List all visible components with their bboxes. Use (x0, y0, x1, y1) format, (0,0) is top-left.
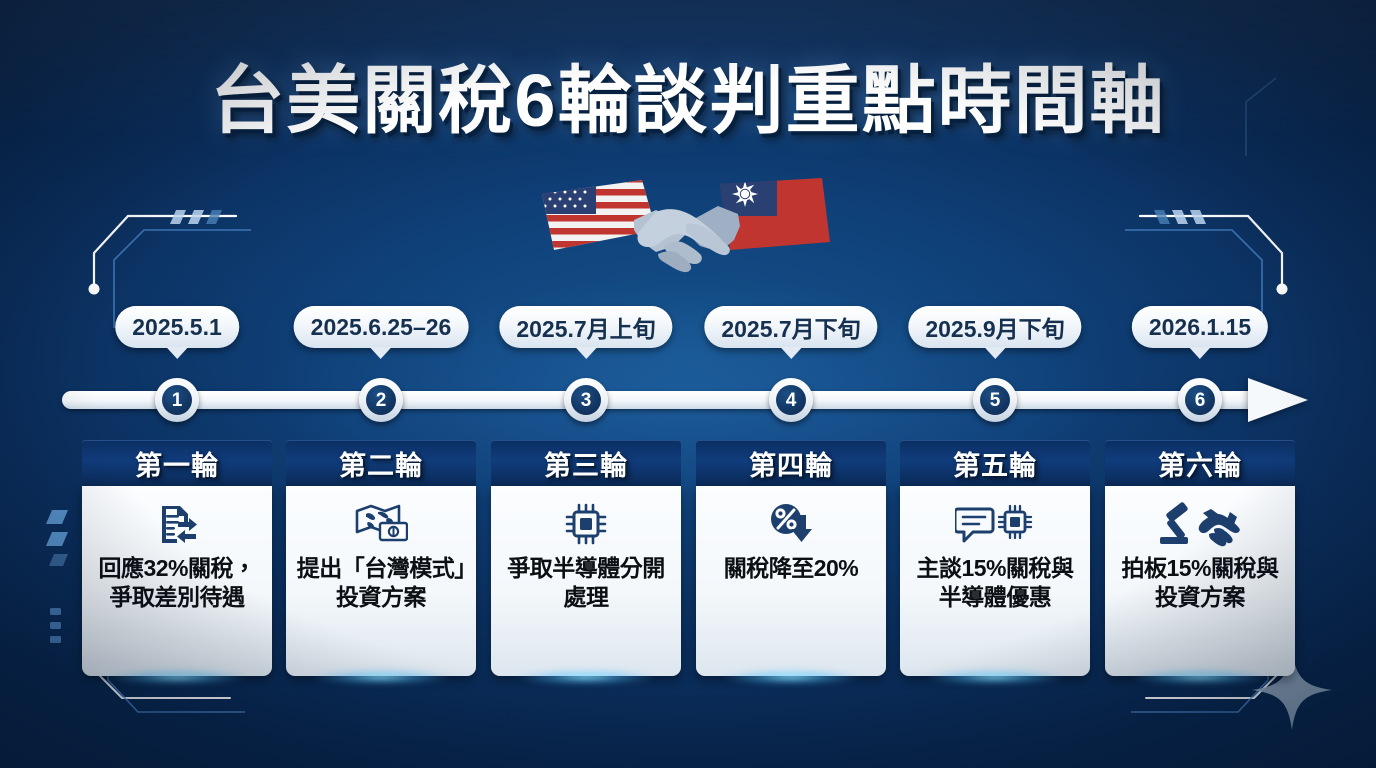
card-glow (107, 669, 247, 685)
round-card-body: 爭取半導體分開處理 (491, 486, 681, 676)
chip (999, 506, 1031, 538)
card-glow (925, 669, 1065, 685)
node-number: 3 (571, 385, 601, 415)
semiconductor-chip-icon (563, 498, 609, 550)
timeline-track (62, 391, 1254, 409)
date-pill-4[interactable]: 2025.7月下旬 (704, 306, 877, 348)
round-card-header: 第一輪 (82, 440, 272, 486)
round-card-text: 主談15%關稅與半導體優惠 (900, 554, 1090, 613)
timeline-node-5[interactable]: 5 (973, 378, 1017, 422)
round-cards-row: 第一輪 回應32%關稅，爭 (62, 440, 1314, 678)
round-header-label: 第一輪 (135, 444, 219, 483)
card-glow (1130, 669, 1270, 685)
round-header-label: 第三輪 (544, 444, 628, 483)
date-pill-3[interactable]: 2025.7月上旬 (499, 306, 672, 348)
document-exchange-icon (154, 498, 200, 550)
node-number: 2 (366, 385, 396, 415)
round-card-body: 主談15%關稅與半導體優惠 (900, 486, 1090, 676)
date-pill-1[interactable]: 2025.5.1 (115, 306, 239, 348)
round-header-label: 第二輪 (339, 444, 423, 483)
round-header-label: 第六輪 (1158, 444, 1242, 483)
date-pills-row: 2025.5.1 2025.6.25–26 2025.7月上旬 2025.7月下… (62, 306, 1314, 354)
speech-bubble (955, 509, 993, 541)
handshake (1199, 509, 1240, 546)
timeline-node-4[interactable]: 4 (769, 378, 813, 422)
date-label: 2025.5.1 (132, 314, 222, 341)
usa-taiwan-handshake-flags-icon (538, 172, 838, 280)
date-label: 2025.7月上旬 (516, 310, 655, 344)
round-card-header: 第二輪 (286, 440, 476, 486)
node-number: 1 (162, 385, 192, 415)
round-card-1[interactable]: 第一輪 回應32%關稅，爭 (82, 440, 272, 676)
map-money-icon (354, 498, 408, 550)
node-number: 4 (776, 385, 806, 415)
round-card-body: 拍板15%關稅與投資方案 (1105, 486, 1295, 676)
card-glow (311, 669, 451, 685)
timeline-arrow-icon (1248, 378, 1308, 422)
round-card-text: 提出「台灣模式」投資方案 (286, 554, 476, 613)
date-pill-6[interactable]: 2026.1.15 (1132, 306, 1268, 348)
page-title-wrap: 台美關稅6輪談判重點時間軸 (0, 62, 1376, 140)
card-glow (516, 669, 656, 685)
round-header-label: 第四輪 (749, 444, 833, 483)
date-pill-5[interactable]: 2025.9月下旬 (908, 306, 1081, 348)
timeline-bar-group: 1 2 3 4 5 6 (62, 382, 1314, 418)
round-card-header: 第五輪 (900, 440, 1090, 486)
date-label: 2025.9月下旬 (925, 310, 1064, 344)
infographic-root: 台美關稅6輪談判重點時間軸 (0, 0, 1376, 768)
round-card-text: 爭取半導體分開處理 (491, 554, 681, 613)
date-pill-2[interactable]: 2025.6.25–26 (294, 306, 469, 348)
round-card-6[interactable]: 第六輪 (1105, 440, 1295, 676)
round-card-4[interactable]: 第四輪 關稅降至20% (696, 440, 886, 676)
timeline-node-1[interactable]: 1 (155, 378, 199, 422)
round-card-text: 回應32%關稅，爭取差別待遇 (82, 554, 272, 613)
date-label: 2025.7月下旬 (721, 310, 860, 344)
node-number: 5 (980, 385, 1010, 415)
date-label: 2026.1.15 (1149, 314, 1251, 341)
card-glow (721, 669, 861, 685)
round-card-header: 第六輪 (1105, 440, 1295, 486)
handshake-icon (634, 206, 740, 272)
gavel-handshake-icon (1158, 498, 1242, 550)
percent-down-arrow-icon (767, 498, 815, 550)
round-card-header: 第三輪 (491, 440, 681, 486)
round-card-body: 提出「台灣模式」投資方案 (286, 486, 476, 676)
date-label: 2025.6.25–26 (311, 314, 452, 341)
timeline-node-6[interactable]: 6 (1178, 378, 1222, 422)
round-card-body: 關稅降至20% (696, 486, 886, 676)
timeline-node-3[interactable]: 3 (564, 378, 608, 422)
round-card-body: 回應32%關稅，爭取差別待遇 (82, 486, 272, 676)
round-card-2[interactable]: 第二輪 (286, 440, 476, 676)
round-card-3[interactable]: 第三輪 爭取半導體分開處理 (491, 440, 681, 676)
round-card-text: 拍板15%關稅與投資方案 (1105, 554, 1295, 613)
gavel (1160, 501, 1189, 544)
timeline-node-2[interactable]: 2 (359, 378, 403, 422)
speech-bubble-chip-icon (955, 498, 1035, 550)
round-card-header: 第四輪 (696, 440, 886, 486)
node-number: 6 (1185, 385, 1215, 415)
round-header-label: 第五輪 (953, 444, 1037, 483)
round-card-5[interactable]: 第五輪 (900, 440, 1090, 676)
page-title: 台美關稅6輪談判重點時間軸 (210, 62, 1165, 140)
round-card-text: 關稅降至20% (716, 554, 867, 583)
